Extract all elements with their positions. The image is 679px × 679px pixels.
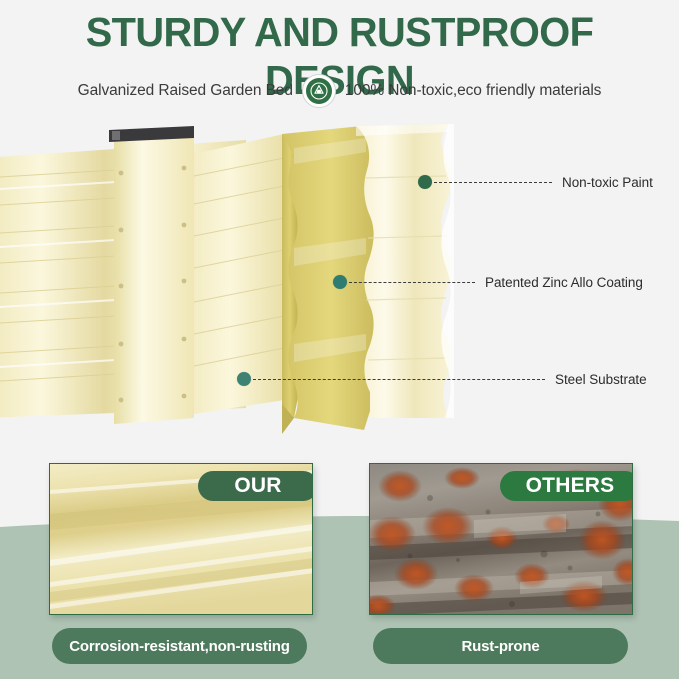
callout-leader-line xyxy=(349,282,475,283)
comparison-card-others: OTHERS xyxy=(369,463,633,615)
callout-zinc-alloy-coating: Patented Zinc Allo Coating xyxy=(333,274,643,290)
our-caption-pill: Corrosion-resistant,non-rusting xyxy=(52,628,307,664)
callout-leader-line xyxy=(434,182,552,183)
eco-leaf-icon xyxy=(302,74,336,108)
callout-dot xyxy=(237,372,251,386)
callout-steel-substrate: Steel Substrate xyxy=(237,371,647,387)
subtitle-row: Galvanized Raised Garden Bed 100% Non-to… xyxy=(0,74,679,108)
callout-leader-line xyxy=(253,379,545,380)
others-caption-label: Rust-prone xyxy=(462,638,540,655)
others-badge-label: OTHERS xyxy=(526,474,615,498)
callout-label: Non-toxic Paint xyxy=(562,175,653,190)
comparison-card-our: OUR xyxy=(49,463,313,615)
others-badge: OTHERS xyxy=(500,471,633,501)
subtitle-right-text: 100% Non-toxic,eco friendly materials xyxy=(345,82,601,100)
callout-non-toxic-paint: Non-toxic Paint xyxy=(418,174,653,190)
infographic-root: STURDY AND RUSTPROOF DESIGN Galvanized R… xyxy=(0,0,679,679)
callout-dot xyxy=(333,275,347,289)
subtitle-left-text: Galvanized Raised Garden Bed xyxy=(78,82,293,100)
our-caption-label: Corrosion-resistant,non-rusting xyxy=(69,638,289,655)
others-caption-pill: Rust-prone xyxy=(373,628,628,664)
callout-dot xyxy=(418,175,432,189)
our-badge-label: OUR xyxy=(234,474,281,498)
callout-label: Steel Substrate xyxy=(555,372,647,387)
callout-label: Patented Zinc Allo Coating xyxy=(485,275,643,290)
our-badge: OUR xyxy=(198,471,313,501)
